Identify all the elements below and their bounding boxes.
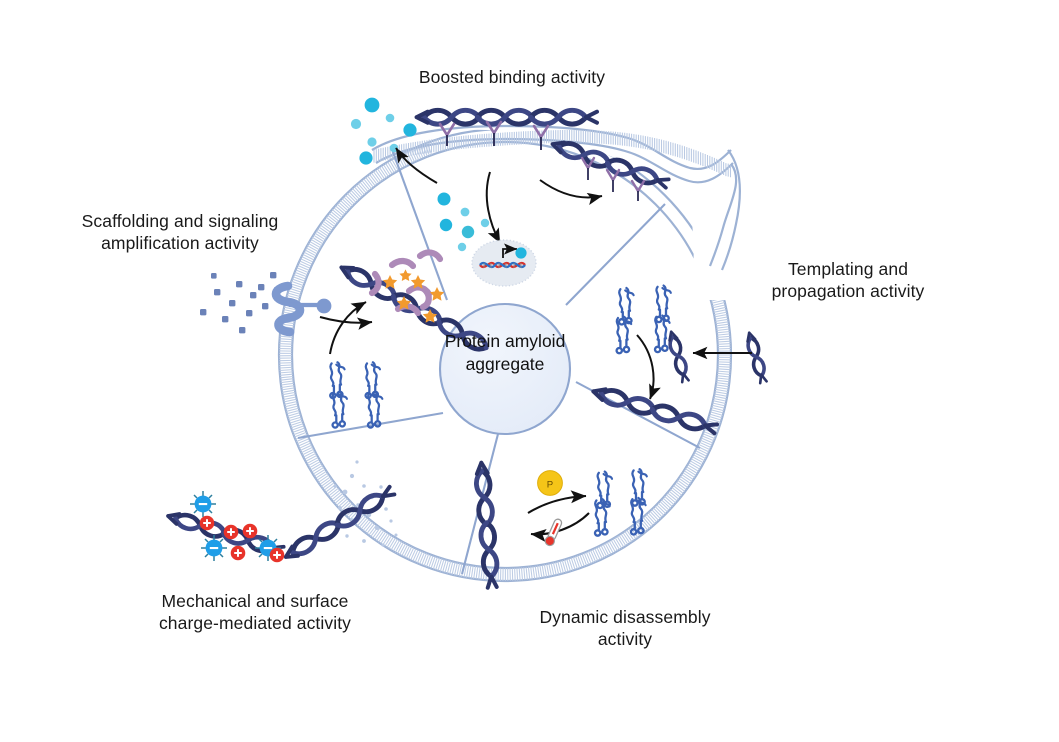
- label-dynamic-disassembly: Dynamic disassembly activity: [495, 606, 755, 651]
- transcript-product: [515, 247, 526, 258]
- spoke-top-right: [566, 204, 665, 305]
- label-boosted-binding: Boosted binding activity: [352, 66, 672, 88]
- diagram-canvas: P: [0, 0, 1059, 742]
- label-mechanical-surface-charge: Mechanical and surface charge-mediated a…: [110, 590, 400, 635]
- transcription-signal-arrow: [487, 172, 500, 243]
- monomer-pool-scaffolding: [330, 362, 382, 427]
- nucleus: [472, 240, 536, 286]
- phosphate-badge: P: [538, 471, 563, 496]
- monomer-pool-disassembly: [595, 469, 647, 535]
- spoke-top-left: [393, 152, 447, 300]
- label-templating-propagation: Templating and propagation activity: [723, 258, 973, 303]
- sector-templating-propagation: [591, 286, 768, 436]
- elongated-fibril: [591, 385, 717, 436]
- recruit-arrow: [330, 302, 366, 354]
- seed-fibril: [666, 330, 690, 382]
- label-scaffolding-signaling: Scaffolding and signaling amplification …: [30, 210, 330, 255]
- center-label: Protein amyloid aggregate: [435, 330, 575, 376]
- incoming-seed-fibril: [744, 331, 768, 383]
- thermometer-icon: [544, 518, 570, 547]
- membrane-deformation-arrow: [540, 180, 602, 197]
- spoke-left: [298, 413, 443, 438]
- seeding-arrow: [637, 335, 654, 399]
- svg-text:P: P: [547, 480, 553, 491]
- disassembly-arrow: [528, 496, 586, 513]
- cyan-signal-molecules-intracellular: [438, 193, 490, 252]
- extracellular-ligand-particles: [200, 272, 280, 333]
- sector-mechanical-surface-charge: [166, 460, 397, 562]
